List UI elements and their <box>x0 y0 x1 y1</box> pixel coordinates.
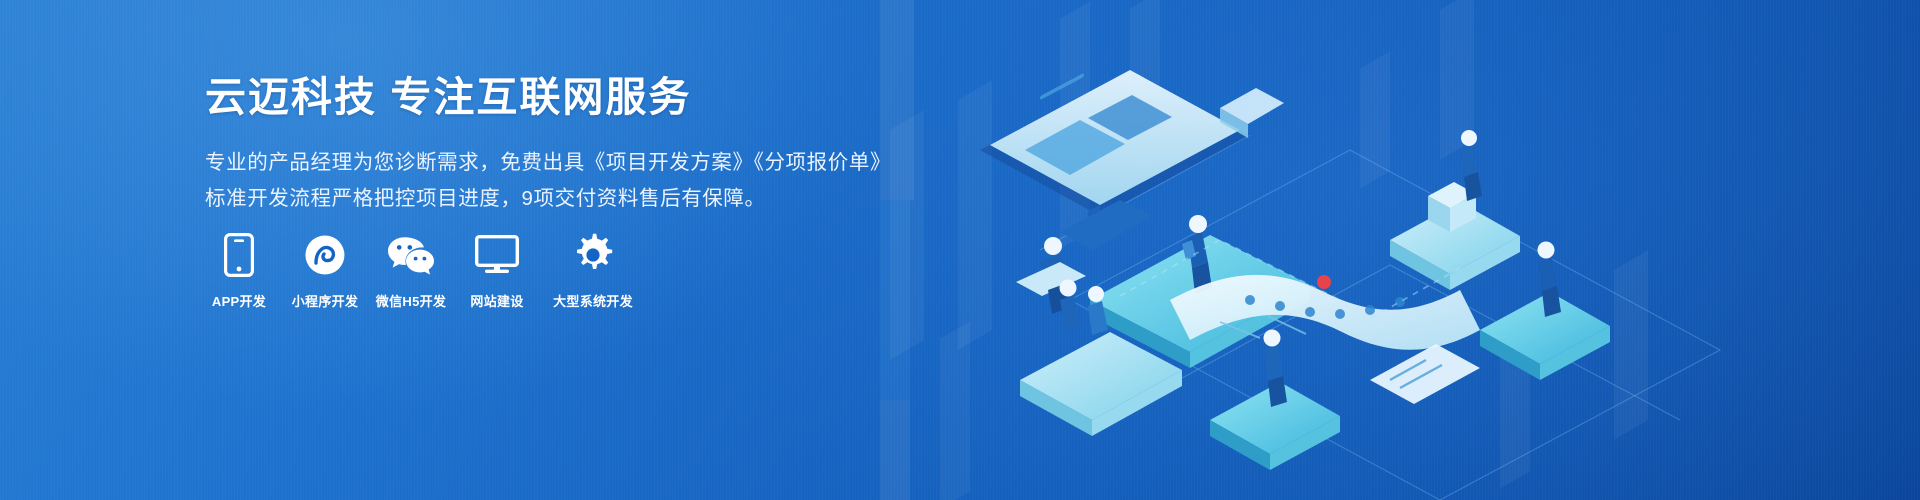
mobile-phone-icon <box>224 232 254 278</box>
service-label: 网站建设 <box>470 291 523 310</box>
cube-station-upper-right <box>1390 182 1520 290</box>
floating-tablet <box>1370 344 1480 404</box>
alert-dot <box>1317 275 1331 289</box>
hero-banner: 云迈科技 专注互联网服务 专业的产品经理为您诊断需求，免费出具《项目开发方案》《… <box>0 0 1920 500</box>
hero-text-block: 云迈科技 专注互联网服务 专业的产品经理为您诊断需求，免费出具《项目开发方案》《… <box>205 72 965 216</box>
service-label: 小程序开发 <box>292 291 359 310</box>
subtitle-line-1: 专业的产品经理为您诊断需求，免费出具《项目开发方案》《分项报价单》 <box>205 145 965 180</box>
subtitle-line-2: 标准开发流程严格把控项目进度，9项交付资料售后有保障。 <box>205 181 965 216</box>
wechat-icon <box>387 232 435 278</box>
service-label: 大型系统开发 <box>553 291 633 310</box>
service-list: APP开发 小程序开发 微信 <box>203 232 639 310</box>
service-item-large-system[interactable]: 大型系统开发 <box>547 232 639 310</box>
dashboard-screen <box>980 70 1250 250</box>
mini-program-icon <box>303 232 347 278</box>
gear-icon <box>571 232 615 278</box>
hero-illustration <box>920 0 1920 500</box>
monitor-icon <box>475 232 519 278</box>
service-item-wechat-h5[interactable]: 微信H5开发 <box>375 232 447 310</box>
page-title: 云迈科技 专注互联网服务 <box>205 72 965 123</box>
service-label: APP开发 <box>212 291 266 310</box>
hero-subtitle: 专业的产品经理为您诊断需求，免费出具《项目开发方案》《分项报价单》 标准开发流程… <box>205 145 965 216</box>
service-item-mini-program[interactable]: 小程序开发 <box>289 232 361 310</box>
service-label: 微信H5开发 <box>376 291 446 310</box>
service-item-website[interactable]: 网站建设 <box>461 232 533 310</box>
service-item-app[interactable]: APP开发 <box>203 232 275 310</box>
